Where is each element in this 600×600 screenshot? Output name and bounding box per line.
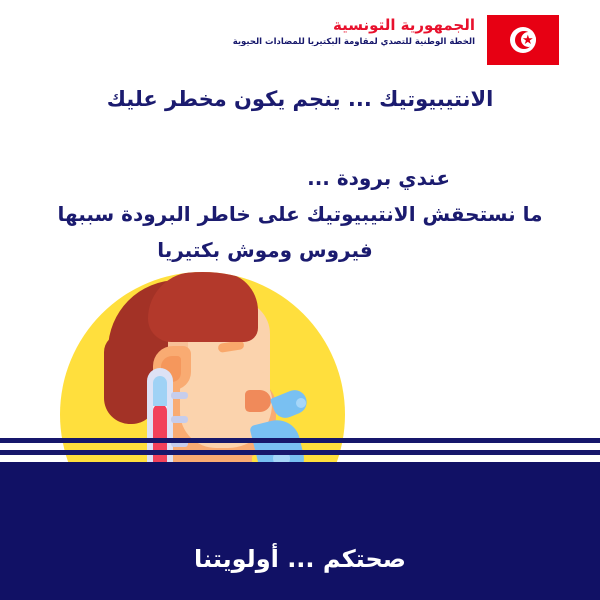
hair-top <box>148 272 258 342</box>
page-title: الانتيبيوتيك ... ينجم يكون مخطر عليك <box>22 84 578 114</box>
tunisia-flag-icon: ★ <box>487 15 559 65</box>
thermometer-tick <box>171 392 188 399</box>
decorative-stripe-lower <box>0 450 600 455</box>
droplet-highlight-small <box>296 398 306 408</box>
header: الجمهورية التونسية الخطة الوطنية للتصدي … <box>0 0 600 82</box>
open-mouth-shape <box>245 390 271 412</box>
poster-root: الجمهورية التونسية الخطة الوطنية للتصدي … <box>0 0 600 600</box>
organization-title: الجمهورية التونسية <box>233 16 475 35</box>
message-line-1: عندي برودة ... <box>0 160 600 196</box>
thermometer-tick <box>171 416 188 423</box>
footer-band: صحتكم ... أولويتنا <box>0 462 600 600</box>
message-block: عندي برودة ... ما نستحقش الانتيبيوتيك عل… <box>0 160 600 268</box>
message-line-3: فيروس وموش بكتيريا <box>0 232 600 268</box>
decorative-stripe-upper <box>0 438 600 443</box>
brand-block: الجمهورية التونسية الخطة الوطنية للتصدي … <box>233 16 475 49</box>
star-icon: ★ <box>522 34 534 47</box>
program-subtitle: الخطة الوطنية للتصدي لمقاومة البكتيريا ل… <box>233 36 475 49</box>
message-line-2: ما نستحقش الانتيبيوتيك على خاطر البرودة … <box>0 196 600 232</box>
footer-slogan: صحتكم ... أولويتنا <box>0 544 600 574</box>
thermometer-tube-top <box>153 376 167 406</box>
flag-disc: ★ <box>510 27 536 53</box>
